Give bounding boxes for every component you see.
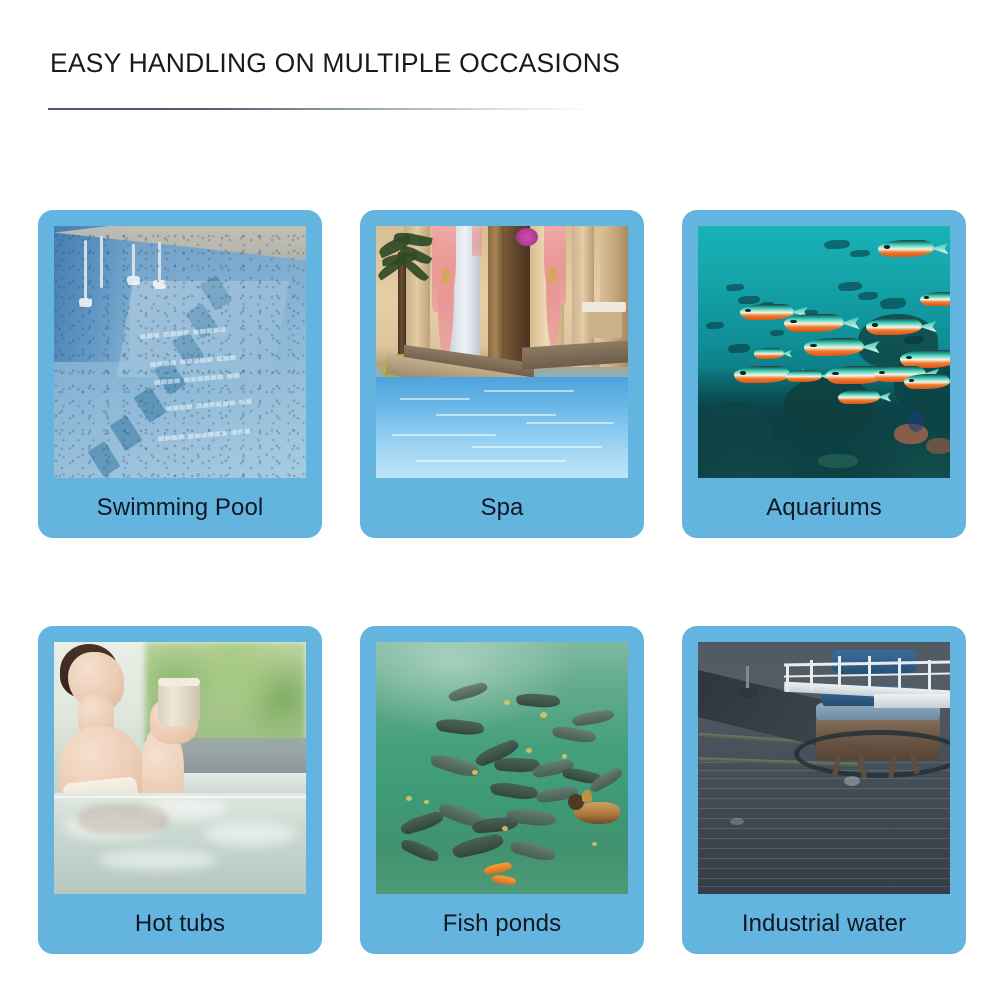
occasion-card-grid: ▄▄▄ ▄▄▄▄ ▄▄▄▄▄ ▄▄▄▄ ▄▄▄▄▄ ▄▄▄ ▄▄▄▄ ▄▄▄▄▄…	[38, 210, 966, 954]
hot-tub-photo	[54, 642, 306, 894]
aquarium-photo	[698, 226, 950, 478]
occasion-card-hot-tubs[interactable]: Hot tubs	[38, 626, 322, 954]
page-title: EASY HANDLING ON MULTIPLE OCCASIONS	[50, 48, 620, 79]
occasion-card-fish-ponds[interactable]: Fish ponds	[360, 626, 644, 954]
spa-photo	[376, 226, 628, 478]
card-label: Spa	[376, 478, 628, 538]
card-label: Swimming Pool	[54, 478, 306, 538]
card-label: Aquariums	[698, 478, 950, 538]
fish-pond-photo	[376, 642, 628, 894]
card-label: Fish ponds	[376, 894, 628, 954]
title-divider	[48, 108, 593, 110]
card-label: Industrial water	[698, 894, 950, 954]
industrial-water-photo	[698, 642, 950, 894]
occasion-card-industrial-water[interactable]: Industrial water	[682, 626, 966, 954]
card-label: Hot tubs	[54, 894, 306, 954]
swimming-pool-photo: ▄▄▄ ▄▄▄▄ ▄▄▄▄▄ ▄▄▄▄ ▄▄▄▄▄ ▄▄▄ ▄▄▄▄ ▄▄▄▄▄…	[54, 226, 306, 478]
occasion-card-spa[interactable]: Spa	[360, 210, 644, 538]
occasion-card-swimming-pool[interactable]: ▄▄▄ ▄▄▄▄ ▄▄▄▄▄ ▄▄▄▄ ▄▄▄▄▄ ▄▄▄ ▄▄▄▄ ▄▄▄▄▄…	[38, 210, 322, 538]
occasion-card-aquariums[interactable]: Aquariums	[682, 210, 966, 538]
